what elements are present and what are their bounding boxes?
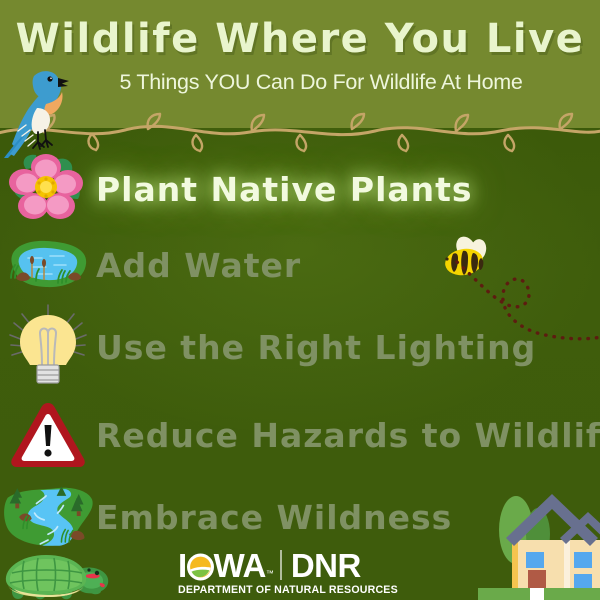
tip-row[interactable]: Use the Right Lighting [0, 308, 600, 386]
warning-sign-icon [0, 396, 96, 474]
tip-label: Plant Native Plants [96, 170, 473, 209]
lightbulb-icon [0, 308, 96, 386]
tip-label: Add Water [96, 246, 301, 285]
tip-row[interactable]: Embrace Wildness [0, 478, 600, 556]
page-subtitle: 5 Things YOU Can Do For Wildlife At Home [0, 70, 600, 95]
pink-flower-icon [0, 150, 96, 228]
logo-sun-leaf-icon [187, 553, 214, 581]
tip-row[interactable]: Add Water [0, 226, 600, 304]
logo-iowa-text: IWA [178, 549, 266, 582]
logo-tagline: DEPARTMENT OF NATURAL RESOURCES [178, 584, 404, 596]
tip-label: Use the Right Lighting [96, 328, 536, 367]
tip-row[interactable]: Reduce Hazards to Wildlife [0, 396, 600, 474]
poster: Wildlife Where You Live 5 Things YOU Can… [0, 0, 600, 600]
tip-label: Embrace Wildness [96, 498, 452, 537]
tip-label: Reduce Hazards to Wildlife [96, 416, 600, 455]
logo-divider [280, 550, 282, 580]
logo-letter-i: I [178, 547, 187, 584]
logo-dnr-text: DNR [291, 549, 361, 582]
iowa-dnr-logo: IWA ™ DNR DEPARTMENT OF NATURAL RESOURCE… [178, 548, 404, 596]
logo-letters-wa: WA [214, 547, 266, 584]
page-title: Wildlife Where You Live [0, 16, 600, 62]
logo-trademark: ™ [266, 569, 274, 582]
stream-icon [0, 478, 96, 556]
tip-row[interactable]: Plant Native Plants [0, 150, 600, 228]
pond-icon [0, 226, 96, 304]
